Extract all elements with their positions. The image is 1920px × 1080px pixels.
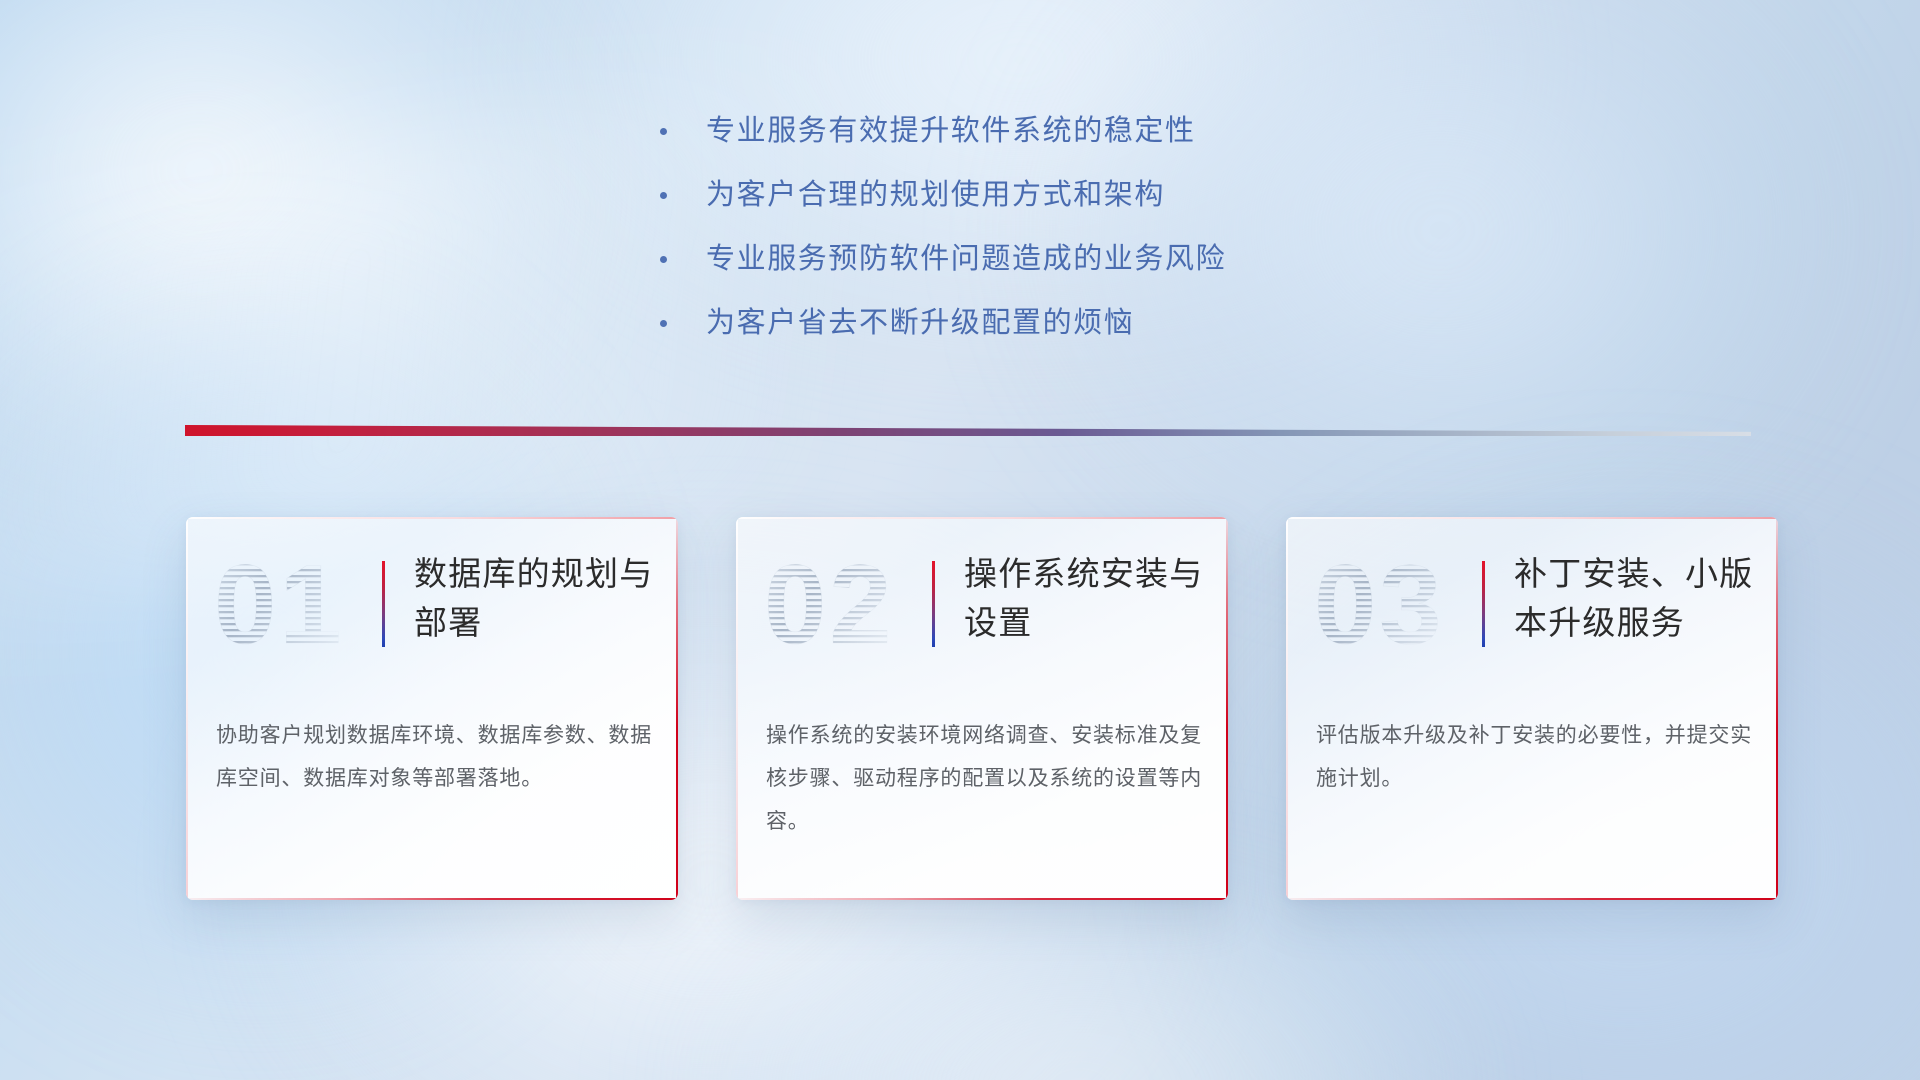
bullet-item-label: 为客户省去不断升级配置的烦恼 <box>706 296 1134 350</box>
svg-text:01: 01 <box>214 551 345 659</box>
section-divider <box>185 425 1751 436</box>
card-accent-rule <box>932 561 935 647</box>
card-number-striped-glyph: 02 02 <box>764 551 914 659</box>
card-description: 操作系统的安装环境网络调查、安装标准及复核步骤、驱动程序的配置以及系统的设置等内… <box>766 714 1206 843</box>
list-item: 为客户省去不断升级配置的烦恼 <box>660 296 1226 360</box>
bullet-item-label: 专业服务预防软件问题造成的业务风险 <box>706 232 1226 286</box>
card-title: 操作系统安装与设置 <box>964 549 1206 647</box>
bullet-item-label: 为客户合理的规划使用方式和架构 <box>706 168 1165 222</box>
card-description: 评估版本升级及补丁安装的必要性，并提交实施计划。 <box>1316 714 1756 800</box>
service-card[interactable]: 03 03 补丁安装、小版本升级服务 评估版本升级及补丁安装的必要性，并提交实施… <box>1286 517 1778 900</box>
divider-gradient-bar <box>185 425 1751 436</box>
svg-text:02: 02 <box>764 551 895 659</box>
card-accent-rule <box>1482 561 1485 647</box>
card-number-striped-glyph: 01 01 <box>214 551 364 659</box>
list-item: 为客户合理的规划使用方式和架构 <box>660 168 1226 232</box>
service-cards-row: 01 01 数据库的规划与部署 协助客户规划数据库环境、数据库参数、数据库空间、… <box>0 517 1920 907</box>
card-edge-bottom <box>186 898 678 901</box>
card-header: 01 01 数据库的规划与部署 <box>186 517 678 672</box>
card-edge-bottom <box>736 898 1228 901</box>
card-number-striped-glyph: 03 03 <box>1314 551 1464 659</box>
card-title: 数据库的规划与部署 <box>414 549 656 647</box>
list-item: 专业服务预防软件问题造成的业务风险 <box>660 232 1226 296</box>
card-header: 02 02 操作系统安装与设置 <box>736 517 1228 672</box>
card-description: 协助客户规划数据库环境、数据库参数、数据库空间、数据库对象等部署落地。 <box>216 714 656 800</box>
service-card[interactable]: 01 01 数据库的规划与部署 协助客户规划数据库环境、数据库参数、数据库空间、… <box>186 517 678 900</box>
card-accent-rule <box>382 561 385 647</box>
bullet-dot-icon <box>660 320 667 327</box>
list-item: 专业服务有效提升软件系统的稳定性 <box>660 104 1226 168</box>
svg-text:03: 03 <box>1314 551 1445 659</box>
bullet-dot-icon <box>660 128 667 135</box>
bullet-item-label: 专业服务有效提升软件系统的稳定性 <box>706 104 1196 158</box>
card-title: 补丁安装、小版本升级服务 <box>1514 549 1756 647</box>
service-card[interactable]: 02 02 操作系统安装与设置 操作系统的安装环境网络调查、安装标准及复核步骤、… <box>736 517 1228 900</box>
card-edge-bottom <box>1286 898 1778 901</box>
benefits-bullet-list: 专业服务有效提升软件系统的稳定性 为客户合理的规划使用方式和架构 专业服务预防软… <box>660 104 1226 360</box>
bullet-dot-icon <box>660 192 667 199</box>
card-header: 03 03 补丁安装、小版本升级服务 <box>1286 517 1778 672</box>
bullet-dot-icon <box>660 256 667 263</box>
